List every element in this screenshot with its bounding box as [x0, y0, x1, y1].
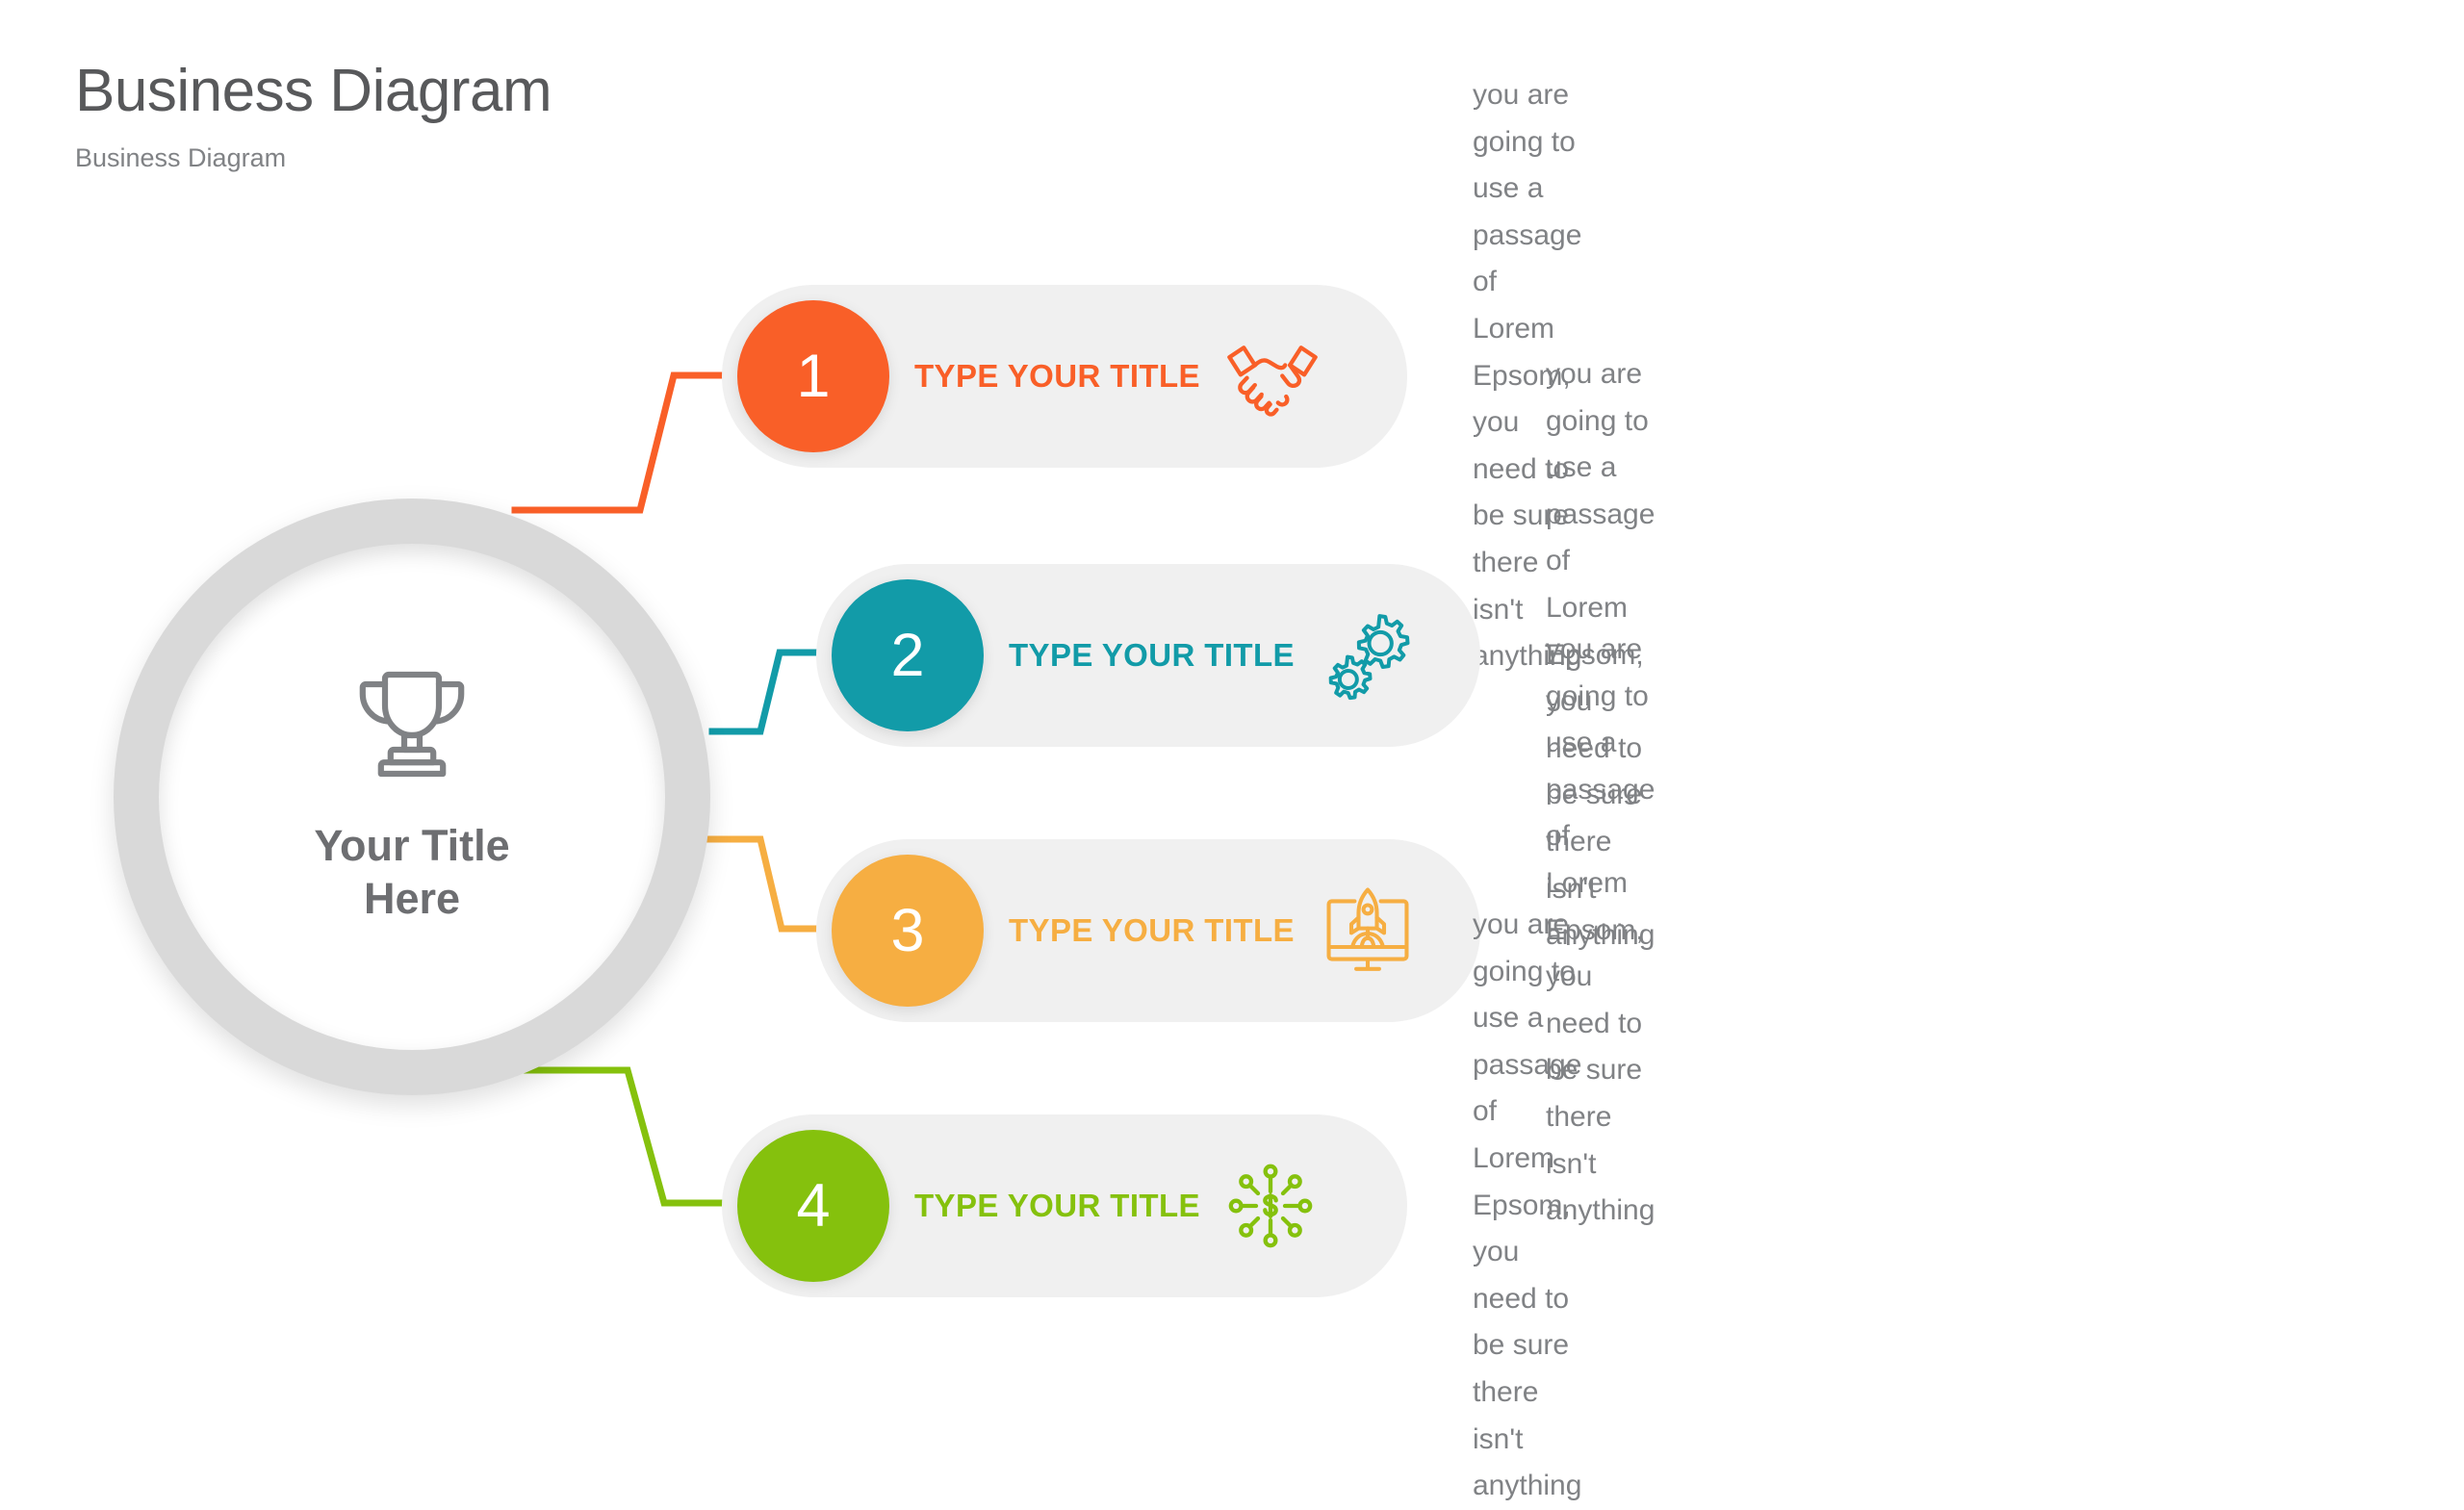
connector-line-3 [701, 839, 834, 929]
step-number-circle-2[interactable]: 2 [832, 579, 984, 731]
step-title-1: TYPE YOUR TITLE [914, 358, 1200, 395]
step-number-circle-3[interactable]: 3 [832, 855, 984, 1007]
connector-line-2 [712, 653, 830, 731]
trophy-icon [350, 669, 474, 787]
connector-line-1 [515, 375, 731, 510]
step-pill-4[interactable]: 4 TYPE YOUR TITLE [722, 1114, 1407, 1297]
step-number-circle-4[interactable]: 4 [737, 1130, 889, 1282]
step-title-4: TYPE YOUR TITLE [914, 1188, 1200, 1224]
center-hub[interactable]: Your Title Here [114, 499, 710, 1095]
gears-icon [1319, 607, 1415, 704]
rocket-launch-monitor-icon [1319, 882, 1417, 980]
page-title: Business Diagram [75, 60, 552, 122]
step-pill-3[interactable]: 3 TYPE YOUR TITLE [816, 839, 1480, 1022]
step-title-2: TYPE YOUR TITLE [1009, 637, 1295, 674]
step-row-4: 4 TYPE YOUR TITLE [722, 1114, 1407, 1297]
step-row-2: 2 TYPE YOUR TITLE you are going to use a… [816, 564, 1480, 747]
step-row-3: 3 TYPE YOUR TITLE you are going to use a… [816, 839, 1480, 1022]
header: Business Diagram Business Diagram [75, 60, 552, 173]
step-row-1: 1 TYPE YOUR TITLE you are going to use a… [722, 285, 1407, 468]
step-description-4: you are going to use a passage of Lorem … [1473, 902, 1581, 1510]
network-money-icon [1222, 1158, 1319, 1254]
step-pill-2[interactable]: 2 TYPE YOUR TITLE [816, 564, 1480, 747]
hub-inner-circle: Your Title Here [159, 544, 665, 1050]
handshake-icon [1222, 335, 1322, 418]
step-title-3: TYPE YOUR TITLE [1009, 912, 1295, 949]
step-number-circle-1[interactable]: 1 [737, 300, 889, 452]
hub-label: Your Title Here [314, 820, 509, 926]
page-subtitle: Business Diagram [75, 143, 552, 173]
step-pill-1[interactable]: 1 TYPE YOUR TITLE [722, 285, 1407, 468]
